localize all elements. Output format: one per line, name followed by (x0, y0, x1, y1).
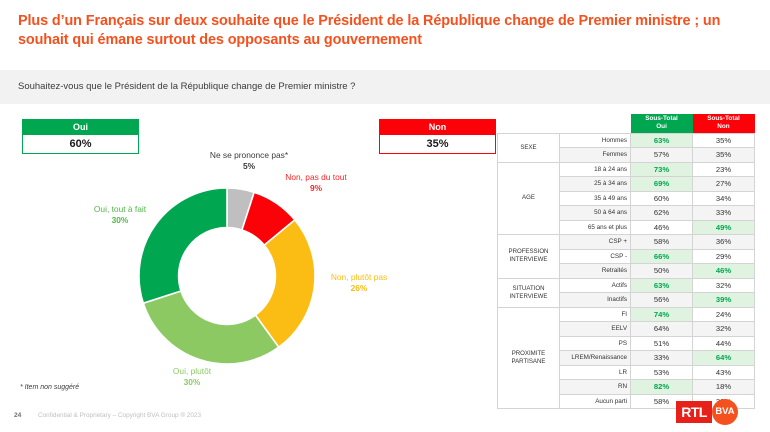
table-cell-sous-total-oui: 73% (631, 162, 693, 177)
table-row-label: Retraités (559, 264, 630, 279)
table-cell-sous-total-non: 44% (693, 336, 755, 351)
crosstab-header-row: Sous-Total Oui Sous-Total Non (498, 114, 755, 133)
crosstab-header-sous-total-oui: Sous-Total Oui (631, 114, 693, 133)
crosstab-body: SEXEHommes63%35%Femmes57%35%AGE18 à 24 a… (498, 133, 755, 409)
table-cell-sous-total-oui: 51% (631, 336, 693, 351)
table-row-label: LR (559, 365, 630, 380)
donut-label-ne-se-prononce-pas-value: 5% (205, 161, 293, 172)
table-cell-sous-total-oui: 58% (631, 235, 693, 250)
table-row-label: LREM/Renaissance (559, 351, 630, 366)
summary-oui-value: 60% (22, 135, 139, 154)
crosstab-header-blank (498, 114, 631, 133)
donut-label-oui-plutot-value: 30% (146, 377, 238, 388)
table-cell-sous-total-non: 24% (693, 307, 755, 322)
table-cell-sous-total-oui: 53% (631, 365, 693, 380)
table-cell-sous-total-oui: 50% (631, 264, 693, 279)
table-cell-sous-total-non: 32% (693, 278, 755, 293)
table-cell-sous-total-oui: 64% (631, 322, 693, 337)
table-cell-sous-total-non: 18% (693, 380, 755, 395)
table-row-label: 25 à 34 ans (559, 177, 630, 192)
table-group-label: AGE (498, 162, 560, 235)
summary-box-oui: Oui 60% (22, 119, 139, 154)
donut-label-oui-tout-a-fait-name: Oui, tout à fait (74, 204, 166, 215)
summary-oui-label: Oui (22, 119, 139, 135)
donut-label-oui-plutot-name: Oui, plutôt (146, 366, 238, 377)
table-cell-sous-total-non: 39% (693, 293, 755, 308)
crosstab: Sous-Total Oui Sous-Total Non SEXEHommes… (497, 114, 755, 409)
table-cell-sous-total-non: 43% (693, 365, 755, 380)
header-oui-line2: Oui (631, 123, 693, 131)
table-cell-sous-total-oui: 57% (631, 148, 693, 163)
copyright-notice: Confidential & Proprietary – Copyright B… (38, 412, 201, 419)
table-row-label: Actifs (559, 278, 630, 293)
table-row-label: FI (559, 307, 630, 322)
table-row-label: 50 à 64 ans (559, 206, 630, 221)
table-cell-sous-total-oui: 63% (631, 133, 693, 148)
table-row-label: Femmes (559, 148, 630, 163)
header-non-line2: Non (693, 123, 755, 131)
table-cell-sous-total-non: 49% (693, 220, 755, 235)
donut-label-non-pas-du-tout: Non, pas du tout 9% (273, 172, 359, 194)
question-label: Souhaitez-vous que le Président de la Ré… (18, 81, 355, 92)
donut-label-non-plutot-pas: Non, plutôt pas 26% (313, 272, 405, 294)
table-cell-sous-total-non: 23% (693, 162, 755, 177)
table-cell-sous-total-non: 32% (693, 322, 755, 337)
header-oui-line1: Sous-Total (631, 115, 693, 123)
table-group-label: SEXE (498, 133, 560, 162)
crosstab-table: Sous-Total Oui Sous-Total Non SEXEHommes… (497, 114, 755, 409)
table-cell-sous-total-oui: 56% (631, 293, 693, 308)
donut-label-non-plutot-pas-value: 26% (313, 283, 405, 294)
table-row-label: PS (559, 336, 630, 351)
table-cell-sous-total-oui: 82% (631, 380, 693, 395)
slide-canvas: Plus d’un Français sur deux souhaite que… (0, 0, 770, 432)
header-non-line1: Sous-Total (693, 115, 755, 123)
table-row: AGE18 à 24 ans73%23% (498, 162, 755, 177)
table-group-label: PROXIMITE PARTISANE (498, 307, 560, 409)
table-row: SEXEHommes63%35% (498, 133, 755, 148)
table-row-label: 18 à 24 ans (559, 162, 630, 177)
donut-label-non-pas-du-tout-name: Non, pas du tout (273, 172, 359, 183)
table-cell-sous-total-oui: 63% (631, 278, 693, 293)
table-cell-sous-total-non: 33% (693, 206, 755, 221)
crosstab-header-sous-total-non: Sous-Total Non (693, 114, 755, 133)
table-row: PROFESSION INTERVIEWECSP +58%36% (498, 235, 755, 250)
page-number: 24 (14, 412, 21, 419)
footnote: * Item non suggéré (20, 384, 79, 391)
table-cell-sous-total-oui: 62% (631, 206, 693, 221)
table-row: SITUATION INTERVIEWEActifs63%32% (498, 278, 755, 293)
table-cell-sous-total-non: 35% (693, 133, 755, 148)
table-row-label: RN (559, 380, 630, 395)
donut-label-oui-tout-a-fait-value: 30% (74, 215, 166, 226)
table-cell-sous-total-non: 64% (693, 351, 755, 366)
table-cell-sous-total-oui: 74% (631, 307, 693, 322)
crosstab-header: Sous-Total Oui Sous-Total Non (498, 114, 755, 133)
table-cell-sous-total-non: 34% (693, 191, 755, 206)
rtl-logo: RTL (676, 401, 712, 423)
table-row-label: 65 ans et plus (559, 220, 630, 235)
donut-label-ne-se-prononce-pas-name: Ne se prononce pas* (205, 150, 293, 161)
table-row-label: Aucun parti (559, 394, 630, 409)
table-cell-sous-total-oui: 69% (631, 177, 693, 192)
table-cell-sous-total-oui: 66% (631, 249, 693, 264)
donut-label-non-plutot-pas-name: Non, plutôt pas (313, 272, 405, 283)
table-row-label: Inactifs (559, 293, 630, 308)
donut-label-oui-tout-a-fait: Oui, tout à fait 30% (74, 204, 166, 226)
summary-box-non: Non 35% (379, 119, 496, 154)
table-cell-sous-total-non: 35% (693, 148, 755, 163)
bva-logo: BVA (712, 399, 738, 425)
donut-label-ne-se-prononce-pas: Ne se prononce pas* 5% (205, 150, 293, 172)
table-group-label: PROFESSION INTERVIEWE (498, 235, 560, 279)
table-row-label: Hommes (559, 133, 630, 148)
table-group-label: SITUATION INTERVIEWE (498, 278, 560, 307)
donut-label-non-pas-du-tout-value: 9% (273, 183, 359, 194)
table-cell-sous-total-non: 36% (693, 235, 755, 250)
table-cell-sous-total-oui: 33% (631, 351, 693, 366)
table-cell-sous-total-non: 29% (693, 249, 755, 264)
donut-label-oui-plutot: Oui, plutôt 30% (146, 366, 238, 388)
summary-non-value: 35% (379, 135, 496, 154)
table-row-label: CSP + (559, 235, 630, 250)
table-row: PROXIMITE PARTISANEFI74%24% (498, 307, 755, 322)
page-title: Plus d’un Français sur deux souhaite que… (18, 12, 752, 50)
table-cell-sous-total-oui: 60% (631, 191, 693, 206)
donut-slice-3 (143, 291, 278, 364)
summary-non-label: Non (379, 119, 496, 135)
table-cell-sous-total-oui: 46% (631, 220, 693, 235)
table-cell-sous-total-non: 27% (693, 177, 755, 192)
table-cell-sous-total-non: 46% (693, 264, 755, 279)
table-row-label: 35 à 49 ans (559, 191, 630, 206)
table-row-label: EELV (559, 322, 630, 337)
table-row-label: CSP - (559, 249, 630, 264)
